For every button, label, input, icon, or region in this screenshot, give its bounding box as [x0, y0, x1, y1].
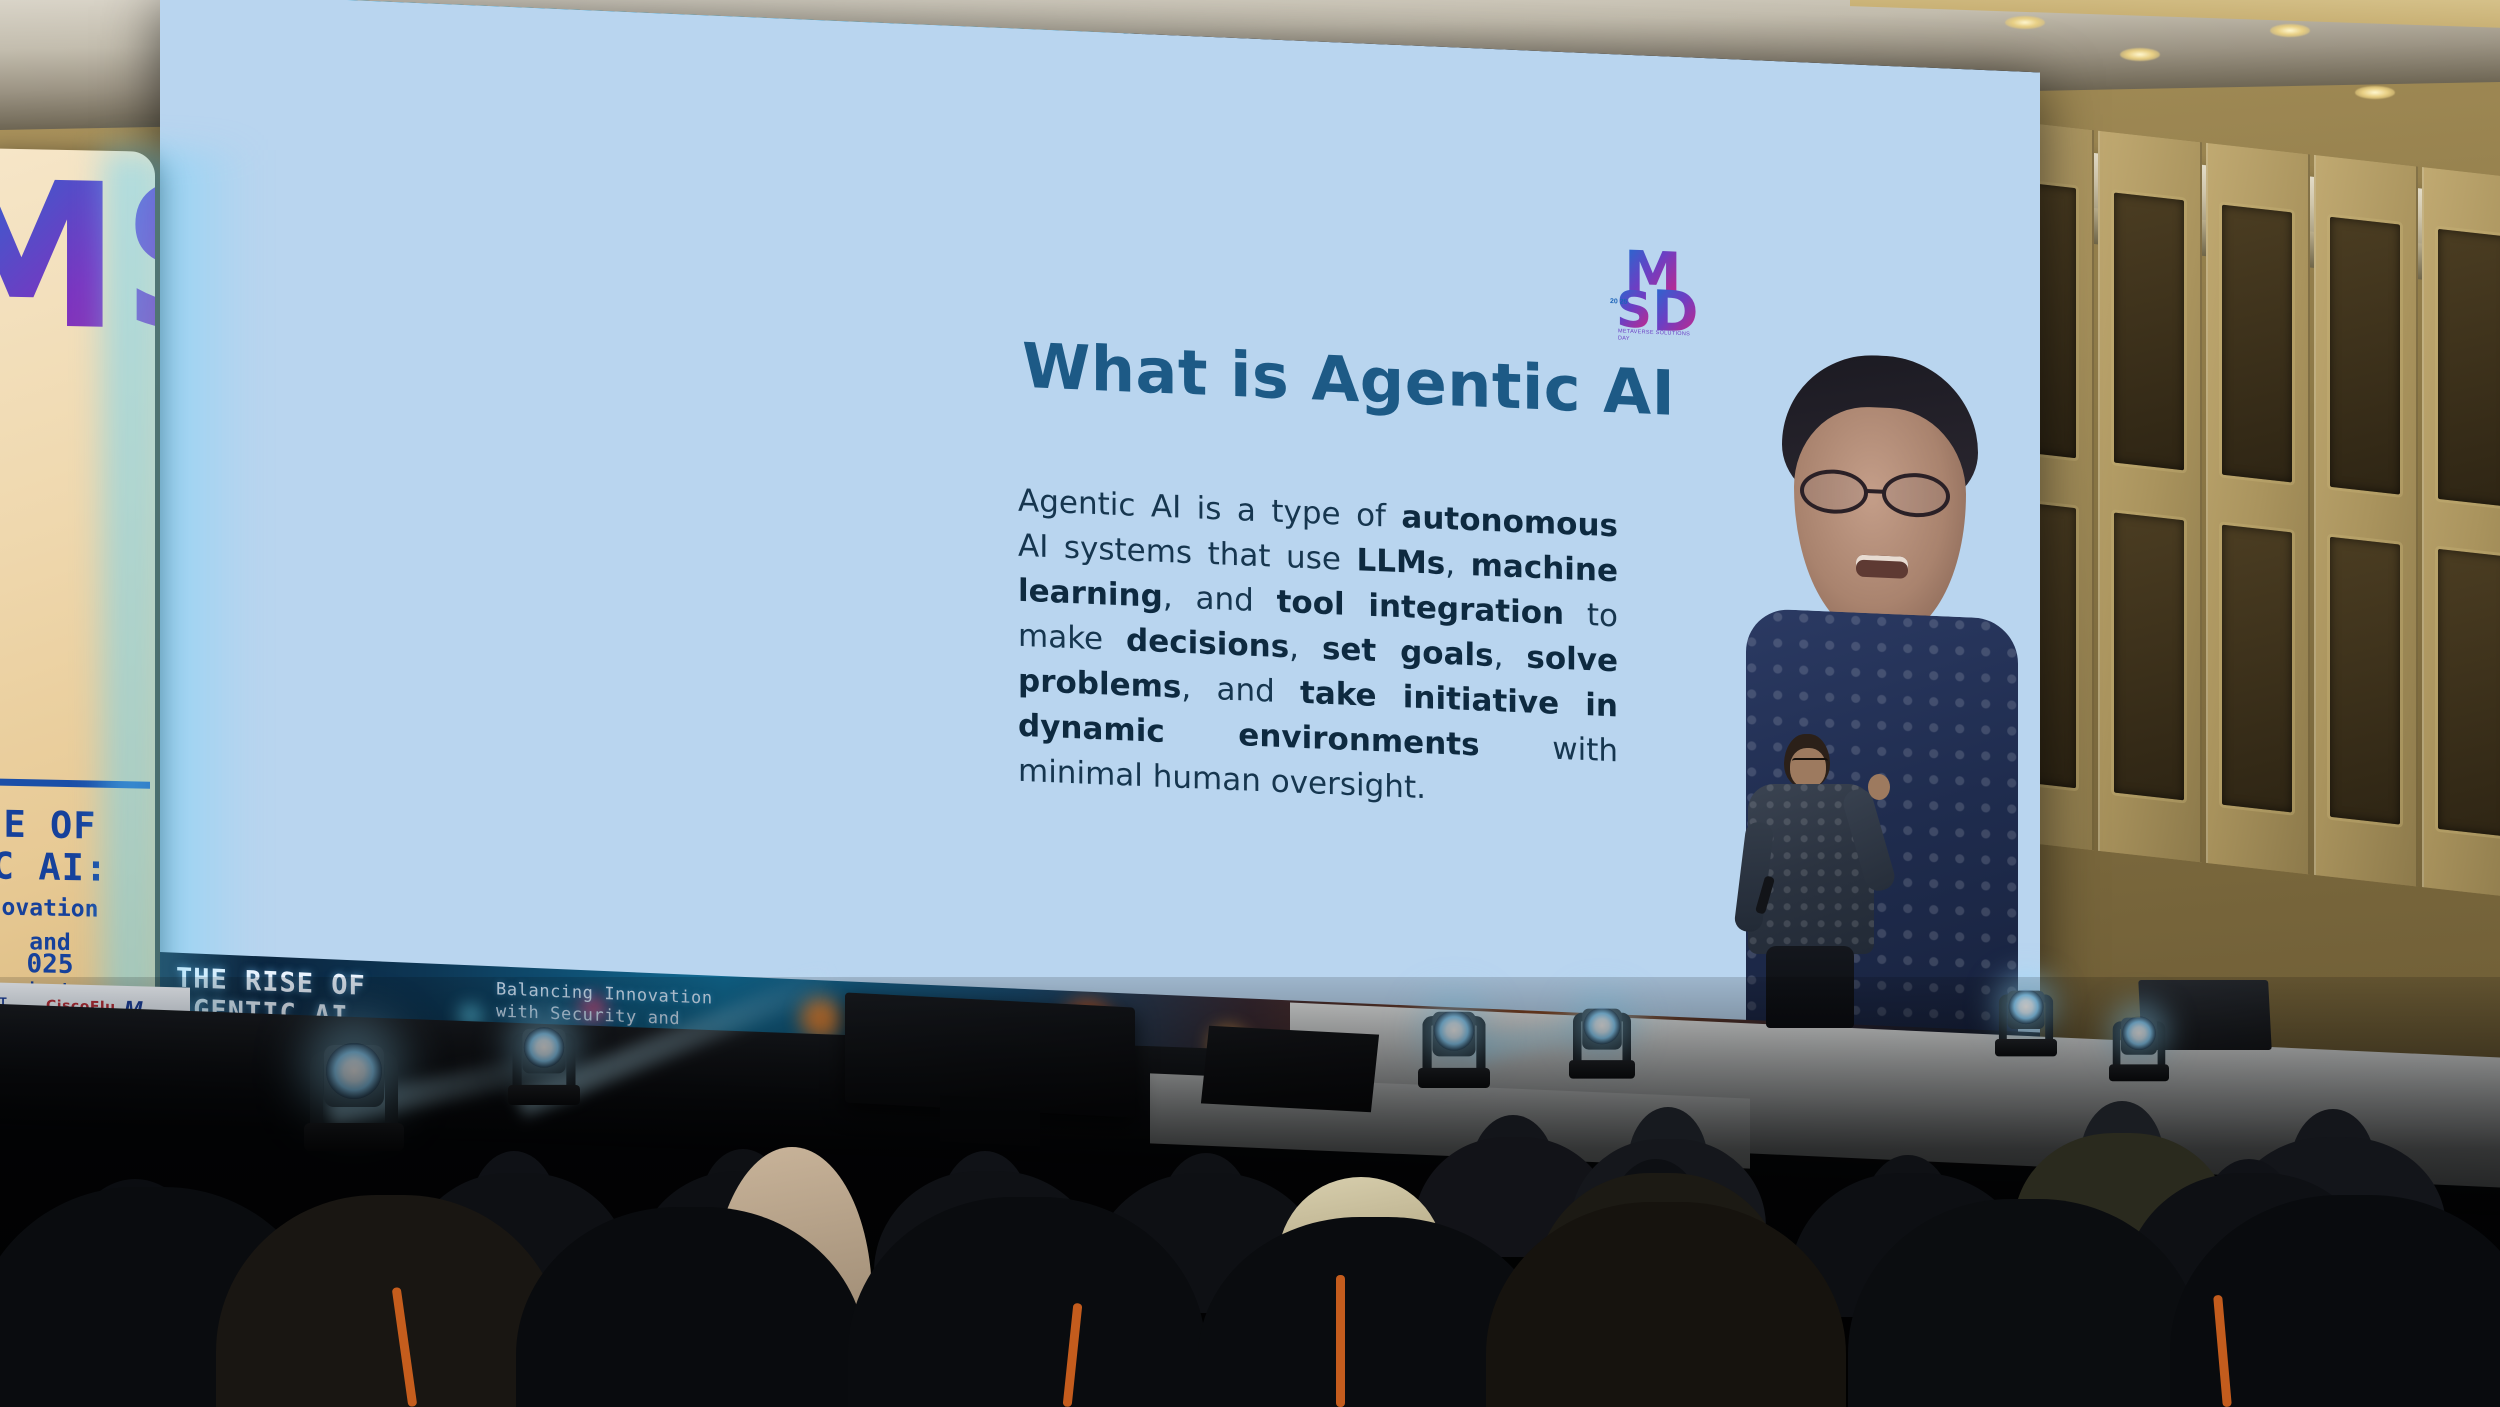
- panel-inset: [2222, 525, 2292, 813]
- body-emphasis: set goals: [1322, 631, 1494, 674]
- body-text: AI systems that use: [1018, 528, 1356, 578]
- glasses-bridge: [1866, 489, 1886, 494]
- body-emphasis: autonomous: [1401, 499, 1618, 544]
- body-text: ,: [1494, 638, 1527, 675]
- ceiling-downlight: [2355, 86, 2395, 99]
- audience-lanyard: [1336, 1275, 1345, 1407]
- panel-inset: [2114, 513, 2184, 801]
- presenter-mouth: [1856, 555, 1908, 579]
- poster-msd-logo: MSD: [0, 167, 155, 354]
- ceiling-downlight: [2270, 24, 2310, 37]
- ceiling-downlight: [2005, 16, 2045, 29]
- poster-divider: [0, 778, 150, 789]
- presenter-face: [1794, 404, 1966, 641]
- poster-sub-line-1: ovation: [0, 892, 155, 925]
- body-emphasis: tool integration: [1277, 584, 1565, 632]
- glasses-icon: [1796, 468, 1966, 519]
- wall-panel-group: [1990, 119, 2500, 942]
- glasses-lens-left: [1800, 468, 1868, 515]
- standing-poster: MSD E OF C AI: ovation and 025 akarta: [0, 148, 155, 1072]
- presenter-face-live: [1790, 748, 1826, 788]
- conference-photo-scene: 1 0 0 1 1 0 0 1 1 1 0 1 1 0 1 0 0 0 1 1 …: [0, 0, 2500, 1407]
- wall-panel: [2314, 155, 2418, 887]
- seated-audience: [0, 977, 2500, 1407]
- glasses-icon: [1792, 758, 1828, 767]
- slide-body-text: Agentic AI is a type of autonomous AI sy…: [1018, 479, 1618, 820]
- wall-panel: [2206, 143, 2310, 875]
- wall-panel: [2098, 131, 2202, 863]
- panel-inset: [2222, 205, 2292, 483]
- panel-inset: [2114, 193, 2184, 471]
- poster-title-line-1: E OF: [0, 802, 155, 849]
- msd-logo: M S D 20 25 METAVERSE SOLUTIONS DAY: [1608, 242, 1700, 346]
- body-text: , and: [1181, 670, 1300, 711]
- panel-inset: [2330, 537, 2400, 825]
- body-emphasis: LLMs: [1356, 542, 1445, 582]
- glasses-lens-right: [1882, 472, 1950, 519]
- wall-panel: [2422, 167, 2500, 899]
- poster-title: E OF C AI: ovation and: [0, 802, 155, 959]
- ceiling-cove: [1850, 0, 2500, 29]
- poster-title-line-2: C AI:: [0, 844, 155, 891]
- panel-inset: [2438, 229, 2500, 507]
- body-text: , and: [1163, 579, 1277, 620]
- panel-inset: [2438, 549, 2500, 837]
- body-text: ,: [1445, 546, 1470, 583]
- body-emphasis: decisions: [1126, 622, 1289, 665]
- panel-inset: [2330, 217, 2400, 495]
- ceiling-downlight: [2120, 48, 2160, 61]
- presenter-hand: [1868, 774, 1890, 800]
- body-text: ,: [1289, 629, 1322, 666]
- msd-logo-year: 20 25: [1610, 298, 1650, 308]
